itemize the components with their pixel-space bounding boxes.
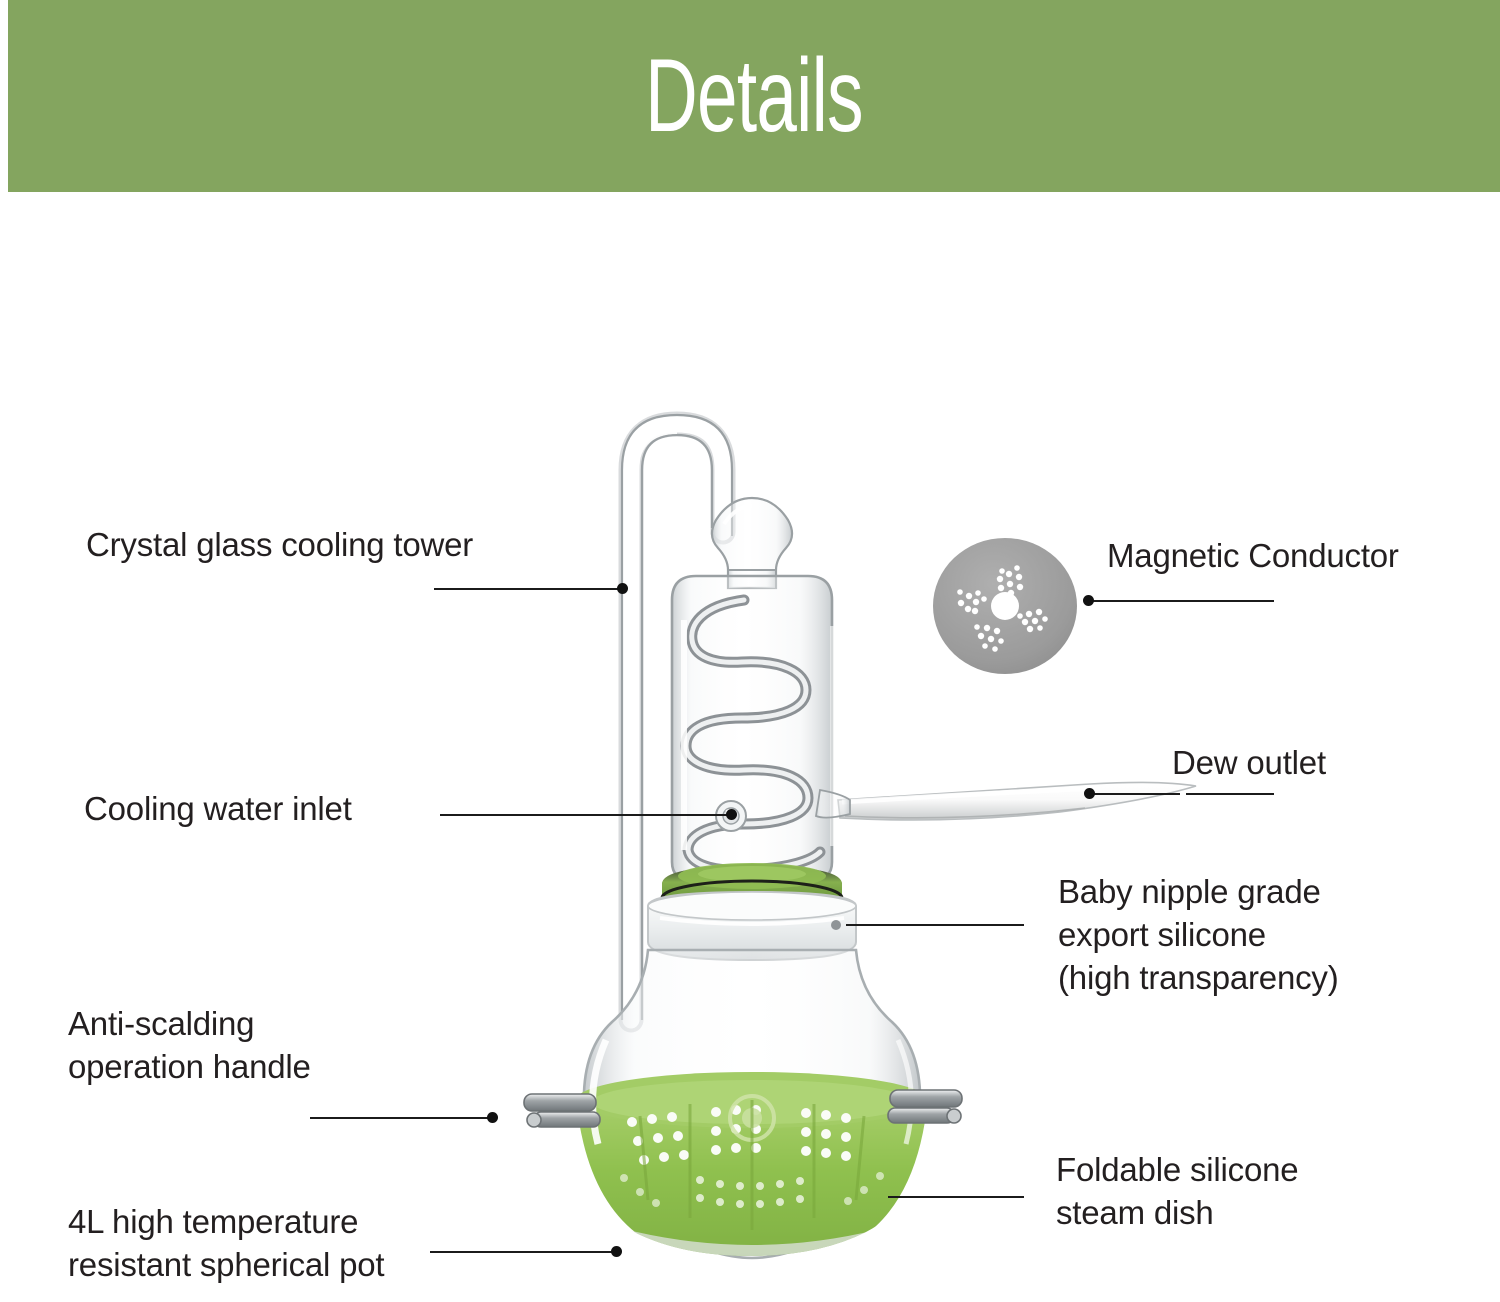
magnetic-conductor-disc [931, 536, 1079, 676]
callout-baby-nipple-grade-silicone: Baby nipple grade export silicone (high … [1058, 870, 1339, 999]
leader-line-spherical-pot [430, 1251, 616, 1253]
leader-line-magnetic-conductor [1088, 600, 1274, 602]
callout-line: 4L high temperature [68, 1200, 384, 1243]
callout-spherical-pot: 4L high temperature resistant spherical … [68, 1200, 384, 1286]
leader-line-dew-outlet-a [1090, 793, 1180, 795]
callout-line: resistant spherical pot [68, 1243, 384, 1286]
callout-line: operation handle [68, 1045, 311, 1088]
spherical-glass-pot [576, 950, 928, 1274]
callout-crystal-glass-cooling-tower: Crystal glass cooling tower [86, 523, 473, 566]
callout-line: Baby nipple grade [1058, 870, 1339, 913]
leader-dot-magnetic-conductor [1083, 595, 1094, 606]
leader-line-cooling-water-inlet [440, 814, 732, 816]
callout-anti-scalding-operation-handle: Anti-scalding operation handle [68, 1002, 311, 1088]
foldable-silicone-steam-dish [576, 1072, 928, 1274]
leader-line-baby-nipple-grade-silicone [846, 924, 1024, 926]
baby-nipple-grade-silicone-gasket [662, 863, 842, 915]
crystal-glass-cooling-tower [672, 498, 850, 880]
product-illustration [0, 0, 1500, 1302]
leader-line-dew-outlet-b [1186, 793, 1274, 795]
callout-magnetic-conductor: Magnetic Conductor [1107, 534, 1399, 577]
leader-line-foldable-silicone-steam-dish [888, 1196, 1024, 1198]
callout-line: Dew outlet [1172, 741, 1326, 784]
callout-line: Foldable silicone [1056, 1148, 1298, 1191]
leader-dot-dew-outlet [1084, 788, 1095, 799]
pot-collar [648, 892, 856, 960]
page-title: Details [232, 0, 1276, 192]
leader-dot-crystal-glass-cooling-tower [617, 583, 628, 594]
callout-cooling-water-inlet: Cooling water inlet [84, 787, 352, 830]
leader-dot-anti-scalding-operation-handle [487, 1112, 498, 1123]
callout-line: (high transparency) [1058, 956, 1339, 999]
callout-line: steam dish [1056, 1191, 1298, 1234]
callout-line: Crystal glass cooling tower [86, 523, 473, 566]
leader-dot-spherical-pot [611, 1246, 622, 1257]
leader-dot-cooling-water-inlet [726, 809, 737, 820]
callout-dew-outlet: Dew outlet [1172, 741, 1326, 784]
header-band: Details [8, 0, 1500, 192]
callout-line: Magnetic Conductor [1107, 534, 1399, 577]
cooling-water-inlet-tube [622, 415, 732, 1020]
callout-line: Anti-scalding [68, 1002, 311, 1045]
anti-scalding-operation-handle [524, 1090, 962, 1127]
dew-outlet-tube [838, 782, 1196, 820]
leader-line-crystal-glass-cooling-tower [434, 588, 622, 590]
callout-foldable-silicone-steam-dish: Foldable silicone steam dish [1056, 1148, 1298, 1234]
condenser-coil [686, 600, 820, 870]
callout-line: Cooling water inlet [84, 787, 352, 830]
leader-line-anti-scalding-operation-handle [310, 1117, 492, 1119]
details-page: Details [0, 0, 1500, 1302]
callout-line: export silicone [1058, 913, 1339, 956]
